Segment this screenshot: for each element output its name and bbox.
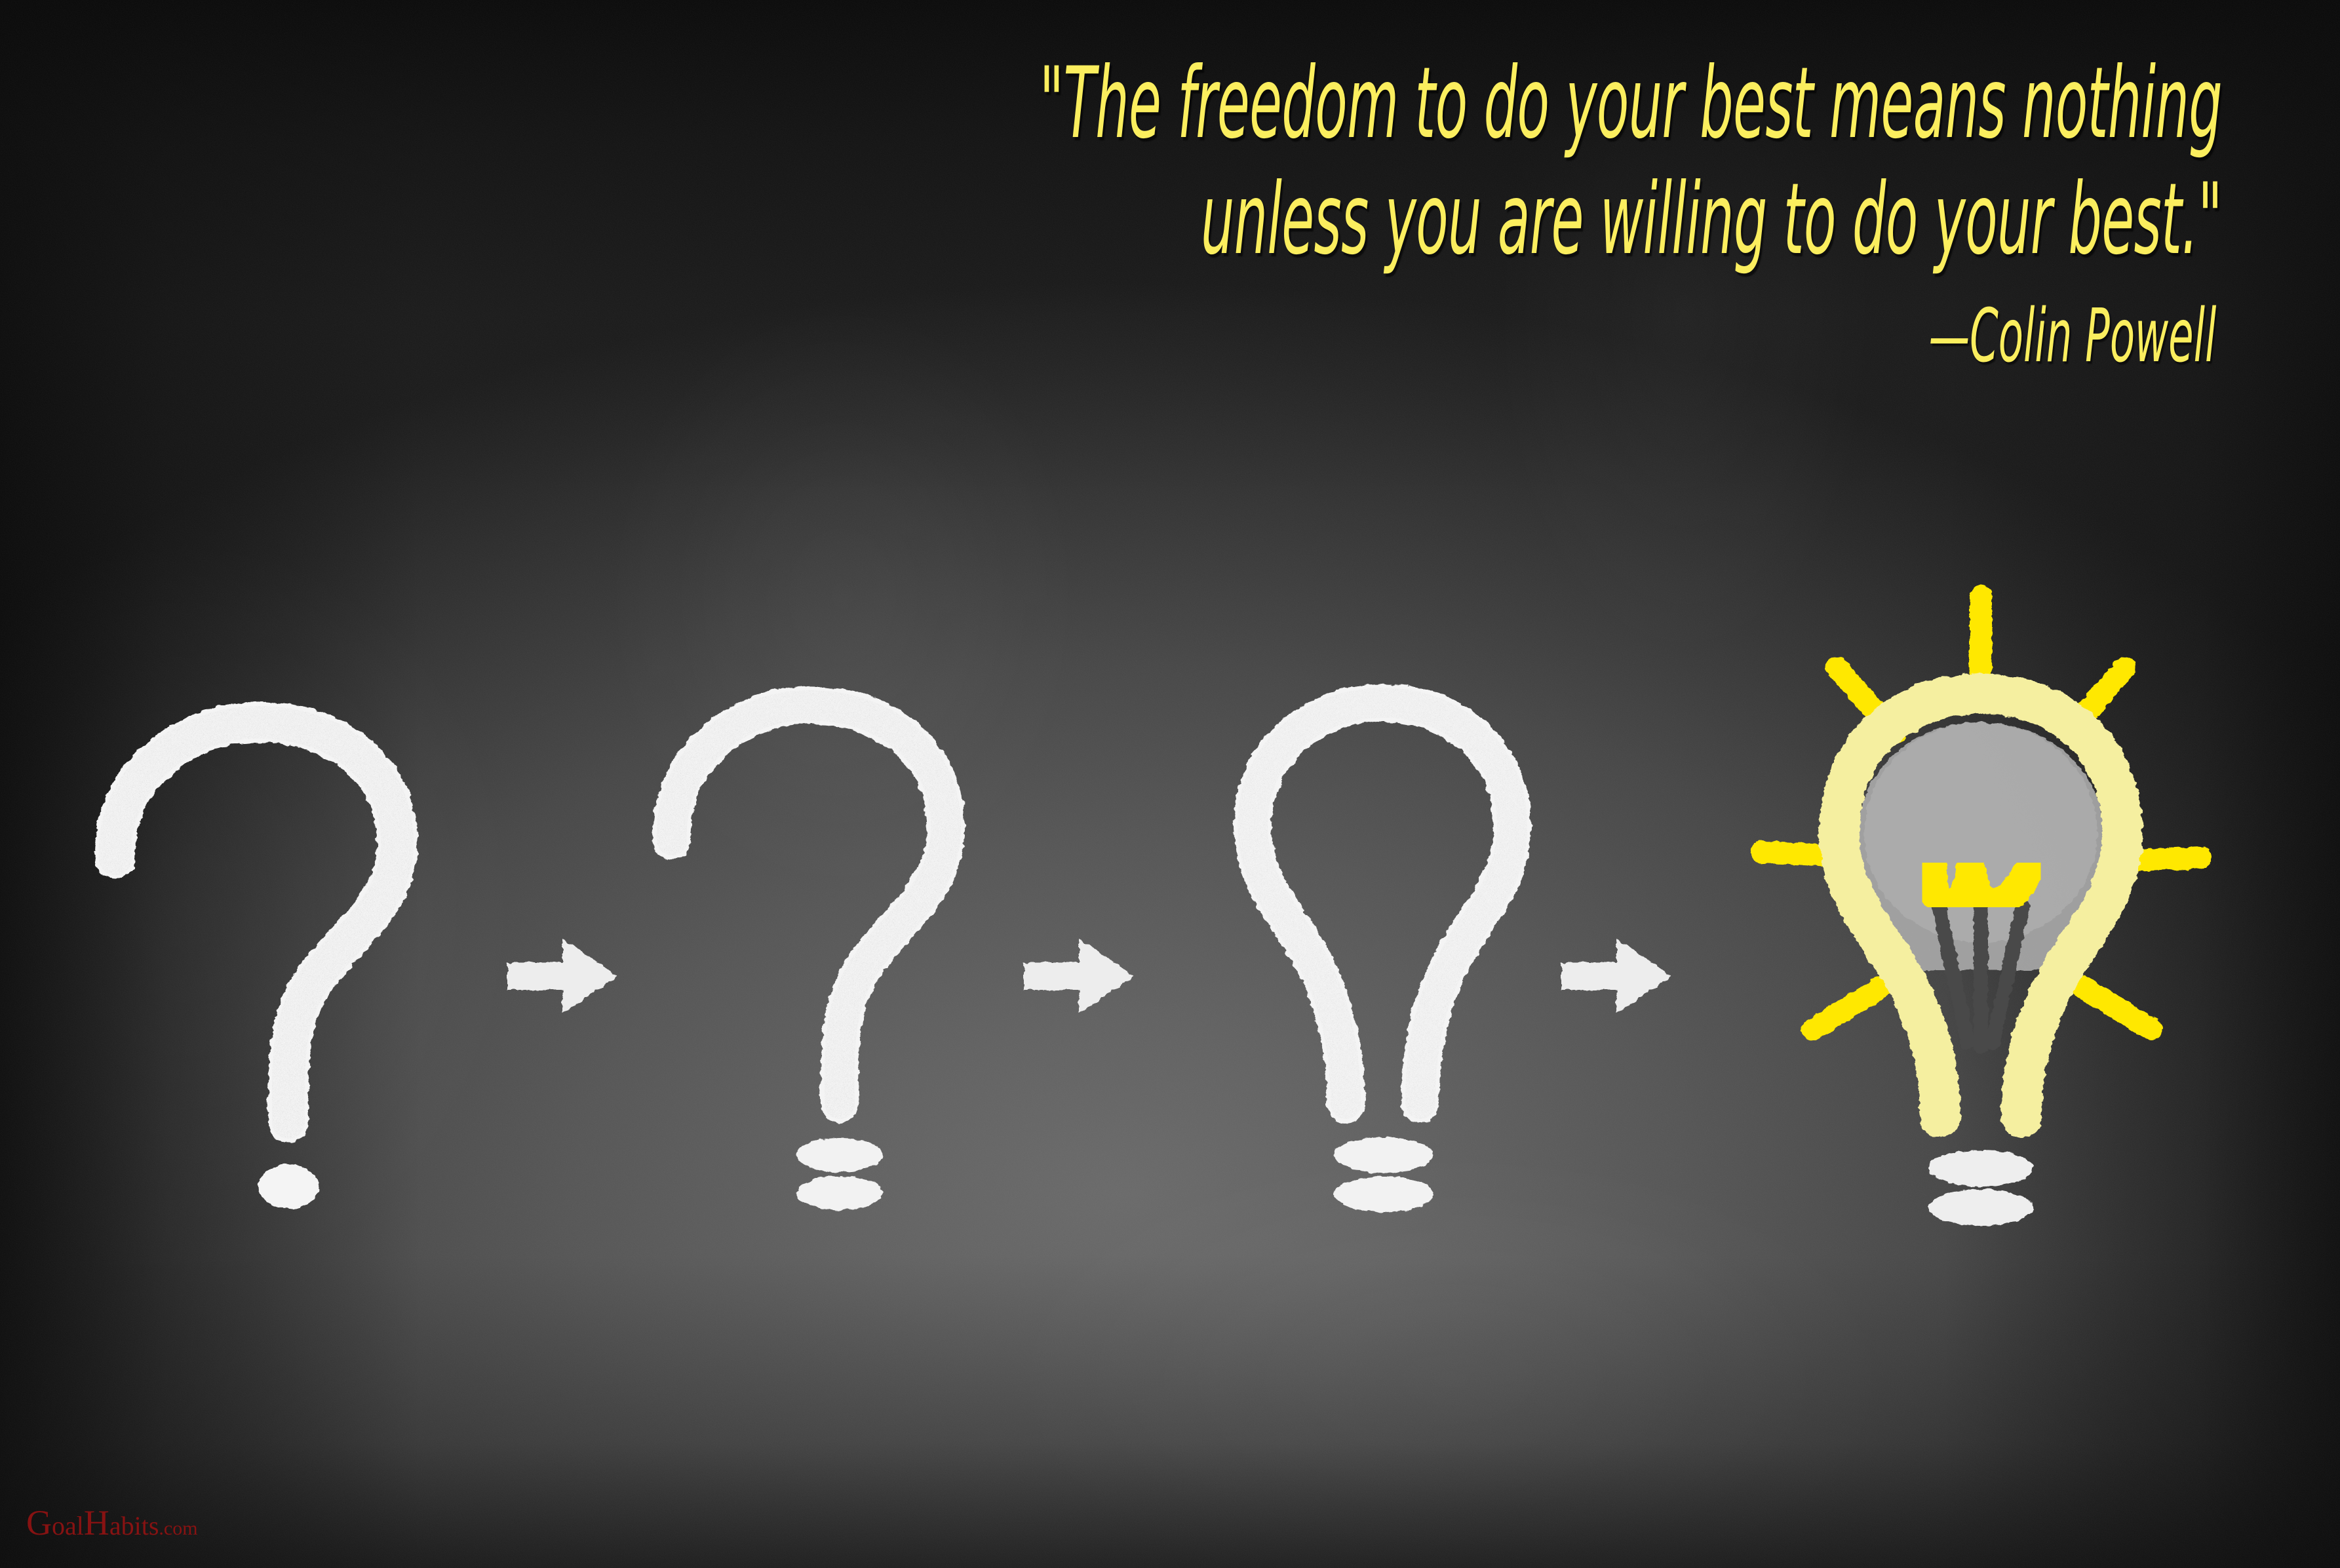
poster-canvas: "The freedom to do your best means nothi… — [0, 0, 2340, 1568]
ray-bottom-right — [2083, 987, 2151, 1029]
watermark-tld: .com — [159, 1518, 197, 1539]
site-watermark[interactable]: GoalHabits.com — [26, 1502, 198, 1543]
arrow-right-icon — [1024, 939, 1134, 1013]
step-4-lightbulb-lit — [1685, 570, 2274, 1252]
progression-diagram — [0, 0, 2340, 1568]
arrow-right-icon — [507, 939, 617, 1013]
bulb-base-bands — [1334, 1137, 1433, 1212]
connector-arrow-2 — [1021, 933, 1146, 1019]
watermark-abits: abits — [109, 1511, 159, 1540]
connector-arrow-1 — [505, 933, 629, 1019]
filament-w — [1932, 867, 2031, 903]
watermark-g: G — [26, 1503, 52, 1542]
watermark-oal: oal — [52, 1511, 84, 1540]
watermark-h: H — [84, 1503, 109, 1542]
question-mark-dot — [258, 1164, 319, 1209]
bulb-base-bands — [796, 1138, 883, 1210]
step-3-lightbulb-unlit — [1216, 669, 1557, 1245]
step-1-question-mark — [92, 682, 511, 1232]
connector-arrow-3 — [1559, 933, 1683, 1019]
step-2-question-mark-base — [646, 669, 1026, 1239]
arrow-right-icon — [1561, 939, 1671, 1013]
bulb-base-bands — [1928, 1150, 2033, 1226]
ray-bottom-left — [1813, 987, 1881, 1029]
